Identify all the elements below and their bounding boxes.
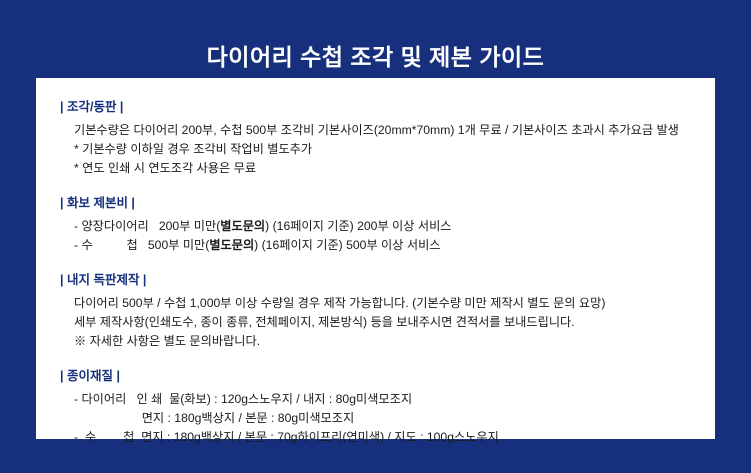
line-bold: 별도문의	[220, 219, 265, 233]
page-title: 다이어리 수첩 조각 및 제본 가이드	[0, 38, 751, 72]
section-line: * 기본수량 이하일 경우 조각비 작업비 별도추가	[60, 140, 691, 159]
section-custom-production: | 내지 독판제작 | 다이어리 500부 / 수첩 1,000부 이상 수량일…	[60, 269, 691, 351]
section-heading: | 종이재질 |	[60, 365, 691, 384]
section-heading: | 내지 독판제작 |	[60, 269, 691, 288]
section-heading: | 화보 제본비 |	[60, 192, 691, 211]
content-card: | 조각/동판 | 기본수량은 다이어리 200부, 수첩 500부 조각비 기…	[36, 78, 715, 439]
section-binding-fee: | 화보 제본비 | - 양장다이어리 200부 미만(별도문의) (16페이지…	[60, 192, 691, 255]
section-line: - 수 첩 500부 미만(별도문의) (16페이지 기준) 500부 이상 서…	[60, 236, 691, 255]
section-line: 면지 : 180g백상지 / 본문 : 80g미색모조지	[60, 409, 691, 428]
line-post: ) (16페이지 기준) 500부 이상 서비스	[254, 238, 440, 252]
line-pre: - 수 첩 500부 미만(	[74, 238, 209, 252]
section-paper-material: | 종이재질 | - 다이어리 인 쇄 물(화보) : 120g스노우지 / 내…	[60, 365, 691, 447]
line-post: ) (16페이지 기준) 200부 이상 서비스	[265, 219, 451, 233]
section-heading: | 조각/동판 |	[60, 96, 691, 115]
section-line: - 수 첩 면지 : 180g백상지 / 본문 : 70g하이프리(연미색) /…	[60, 428, 691, 447]
section-engraving: | 조각/동판 | 기본수량은 다이어리 200부, 수첩 500부 조각비 기…	[60, 96, 691, 178]
section-line: * 연도 인쇄 시 연도조각 사용은 무료	[60, 159, 691, 178]
section-line: - 양장다이어리 200부 미만(별도문의) (16페이지 기준) 200부 이…	[60, 217, 691, 236]
section-line: 다이어리 500부 / 수첩 1,000부 이상 수량일 경우 제작 가능합니다…	[60, 294, 691, 313]
section-line: 세부 제작사항(인쇄도수, 종이 종류, 전체페이지, 제본방식) 등을 보내주…	[60, 313, 691, 332]
line-pre: - 양장다이어리 200부 미만(	[74, 219, 220, 233]
poster-root: 다이어리 수첩 조각 및 제본 가이드 | 조각/동판 | 기본수량은 다이어리…	[0, 0, 751, 473]
section-line: 기본수량은 다이어리 200부, 수첩 500부 조각비 기본사이즈(20mm*…	[60, 121, 691, 140]
line-bold: 별도문의	[209, 238, 254, 252]
section-line: ※ 자세한 사항은 별도 문의바랍니다.	[60, 332, 691, 351]
section-line: - 다이어리 인 쇄 물(화보) : 120g스노우지 / 내지 : 80g미색…	[60, 390, 691, 409]
